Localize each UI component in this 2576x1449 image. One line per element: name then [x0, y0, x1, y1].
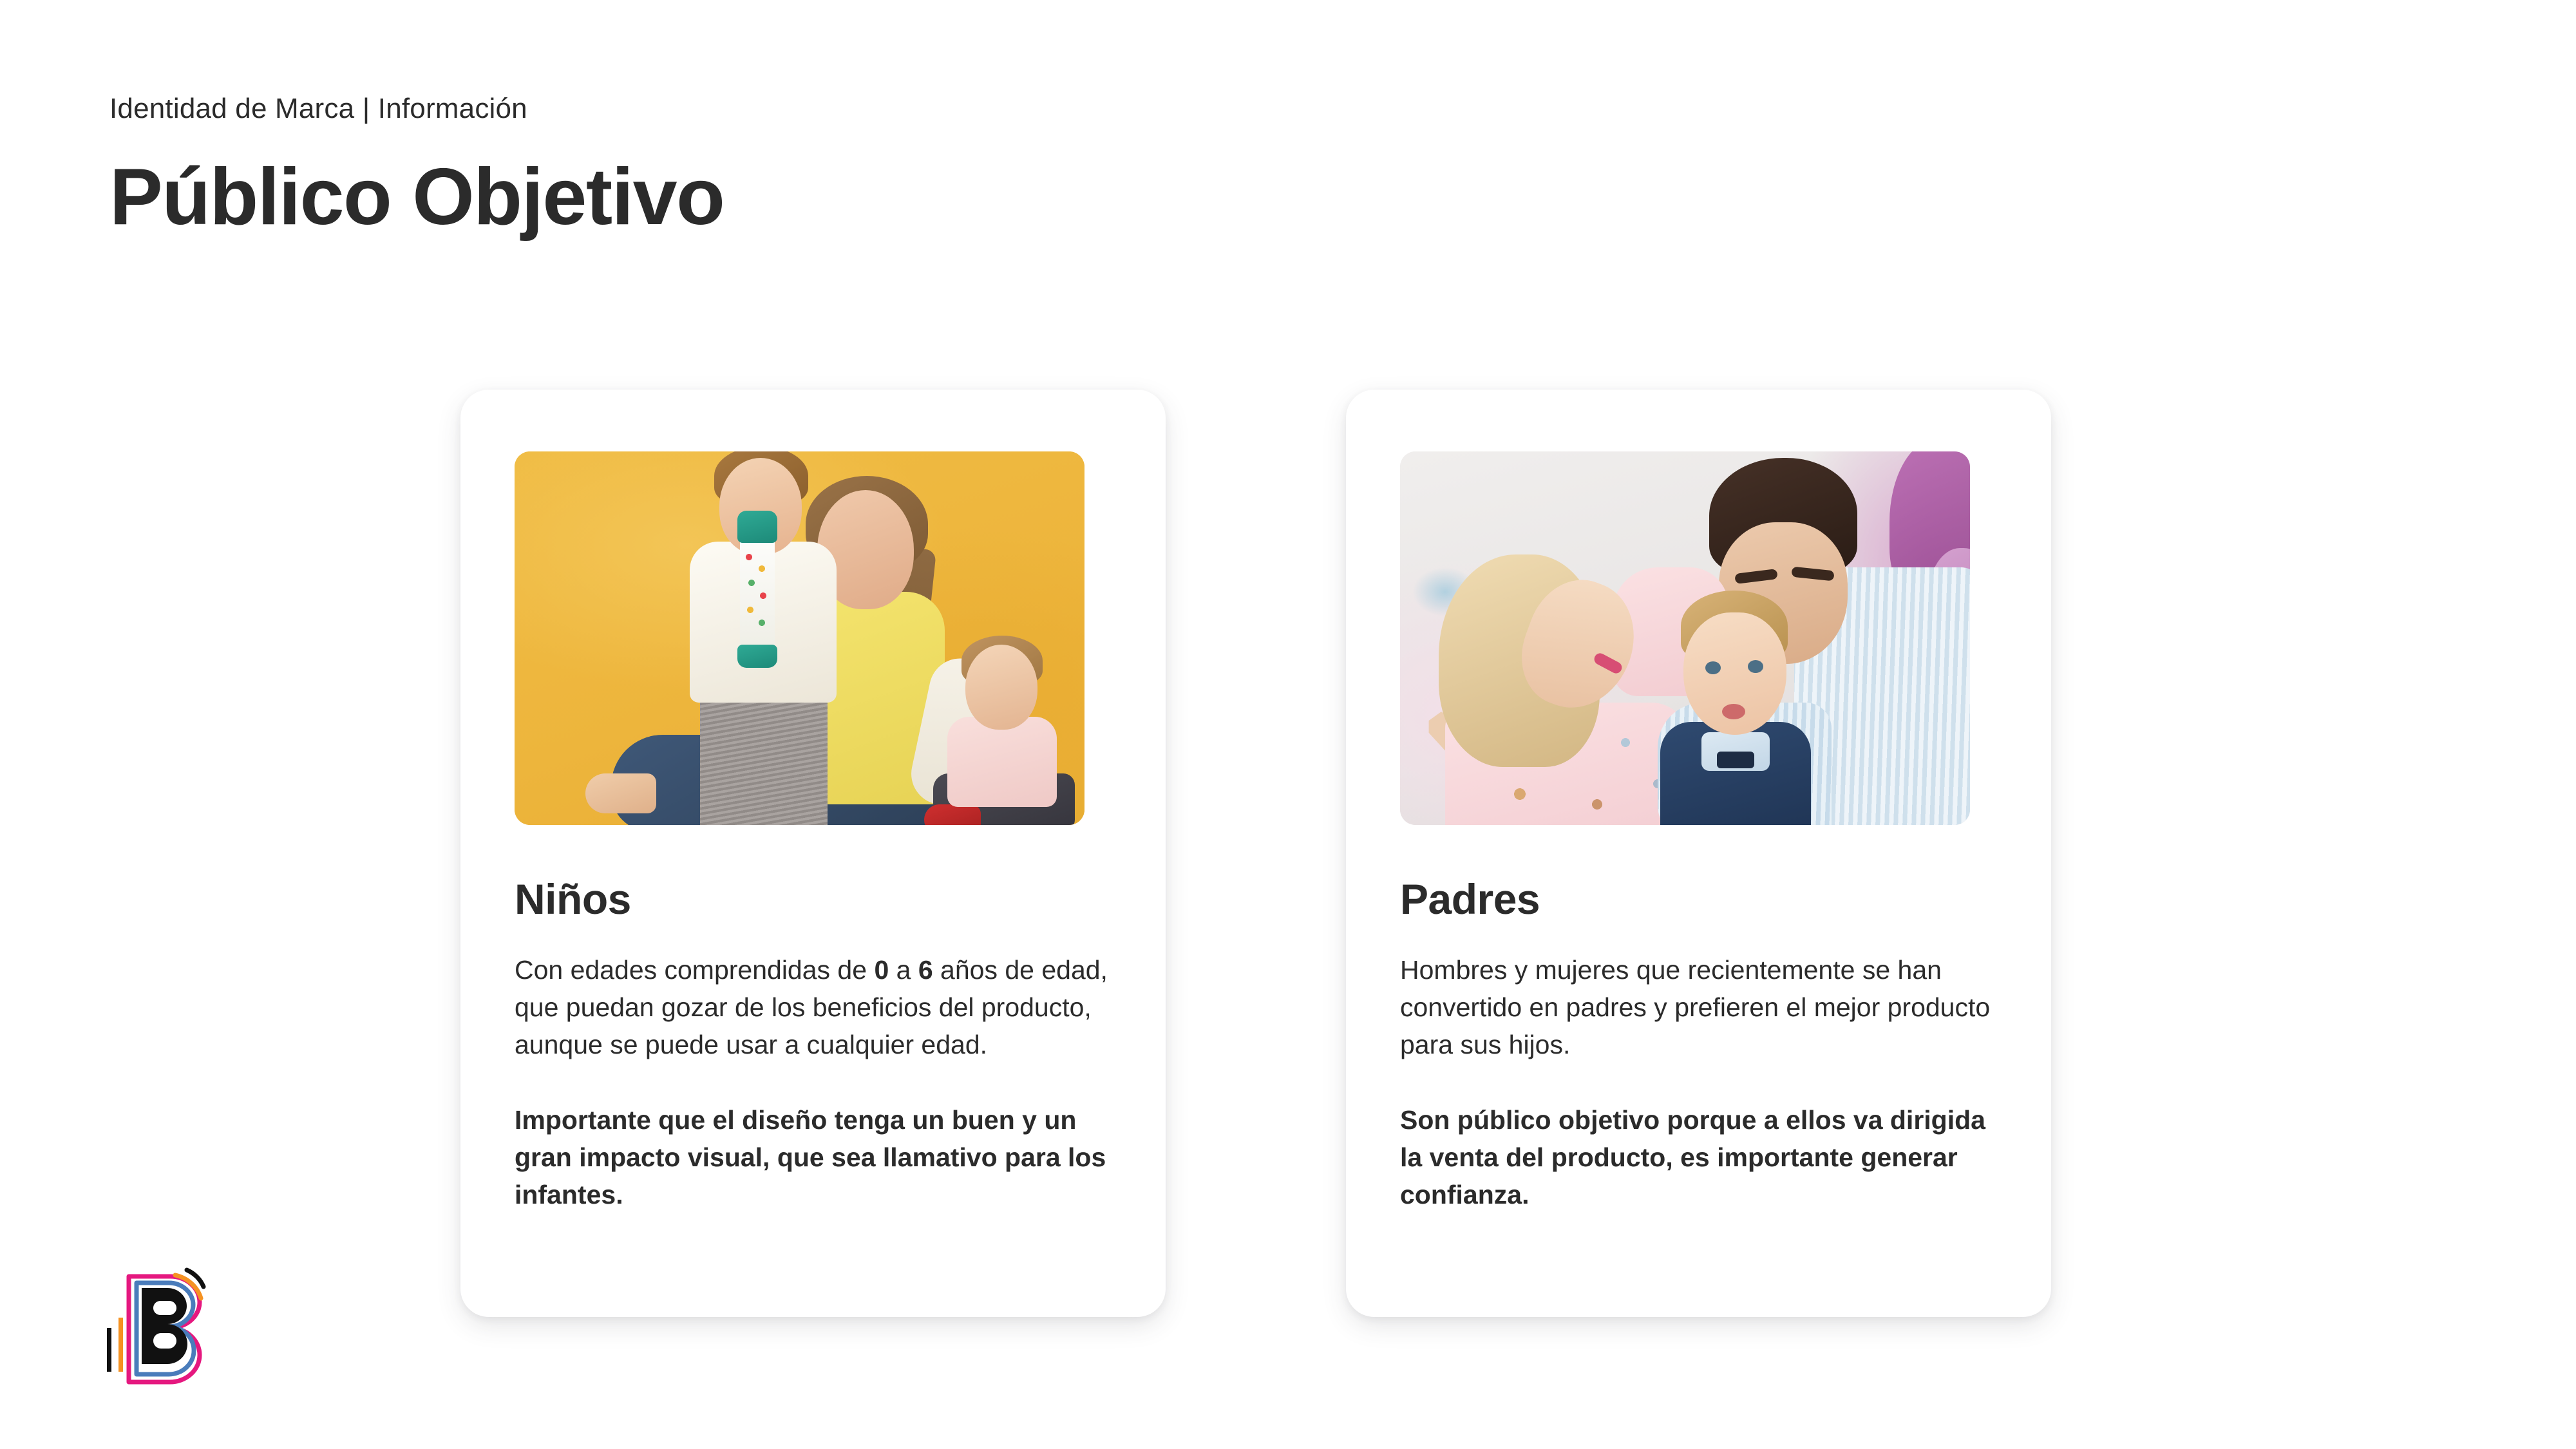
card-ninos[interactable]: Niños Con edades comprendidas de 0 a 6 a…: [460, 390, 1166, 1317]
card-padres[interactable]: Padres Hombres y mujeres que recientemen…: [1346, 390, 2051, 1317]
card-heading-ninos: Niños: [515, 878, 1112, 920]
mother-foot: [585, 773, 656, 813]
baby-shirt: [947, 717, 1057, 807]
brand-logo-icon: [103, 1264, 219, 1386]
text-segment-bold: 0: [874, 955, 889, 985]
page-title: Público Objetivo: [109, 155, 1655, 239]
baby-left-eye: [1705, 661, 1721, 674]
paragraph: Con edades comprendidas de 0 a 6 años de…: [515, 951, 1112, 1064]
text-segment: Con edades comprendidas de: [515, 955, 874, 985]
paragraph: Hombres y mujeres que recientemente se h…: [1400, 951, 1997, 1064]
text-segment: a: [889, 955, 918, 985]
baby-red-shoe: [924, 804, 981, 825]
photo-parents-with-baby: [1400, 451, 1970, 825]
paragraph-emphasis: Importante que el diseño tenga un buen y…: [515, 1101, 1112, 1214]
breadcrumb-overline: Identidad de Marca | Información: [109, 93, 1655, 124]
baby-right-eye: [1748, 660, 1763, 673]
card-heading-padres: Padres: [1400, 878, 1997, 920]
paragraph-emphasis: Son público objetivo porque a ellos va d…: [1400, 1101, 1997, 1214]
slide-header: Identidad de Marca | Información Público…: [109, 93, 1655, 240]
water-bottle-pattern: [744, 549, 771, 639]
water-bottle-base: [737, 645, 777, 668]
toddler-pants: [700, 690, 828, 825]
water-bottle-cap: [737, 511, 777, 543]
card-body-padres: Hombres y mujeres que recientemente se h…: [1400, 951, 1997, 1213]
baby-mouth: [1722, 704, 1745, 719]
baby-face: [965, 645, 1037, 730]
card-body-ninos: Con edades comprendidas de 0 a 6 años de…: [515, 951, 1112, 1213]
slide-root: Identidad de Marca | Información Público…: [0, 0, 2576, 1449]
cards-row: Niños Con edades comprendidas de 0 a 6 a…: [460, 390, 2058, 1323]
brand-logo-b: [103, 1264, 219, 1386]
baby-bow-tie: [1717, 752, 1754, 768]
photo-mother-with-two-children: [515, 451, 1084, 825]
text-segment-bold: 6: [918, 955, 933, 985]
